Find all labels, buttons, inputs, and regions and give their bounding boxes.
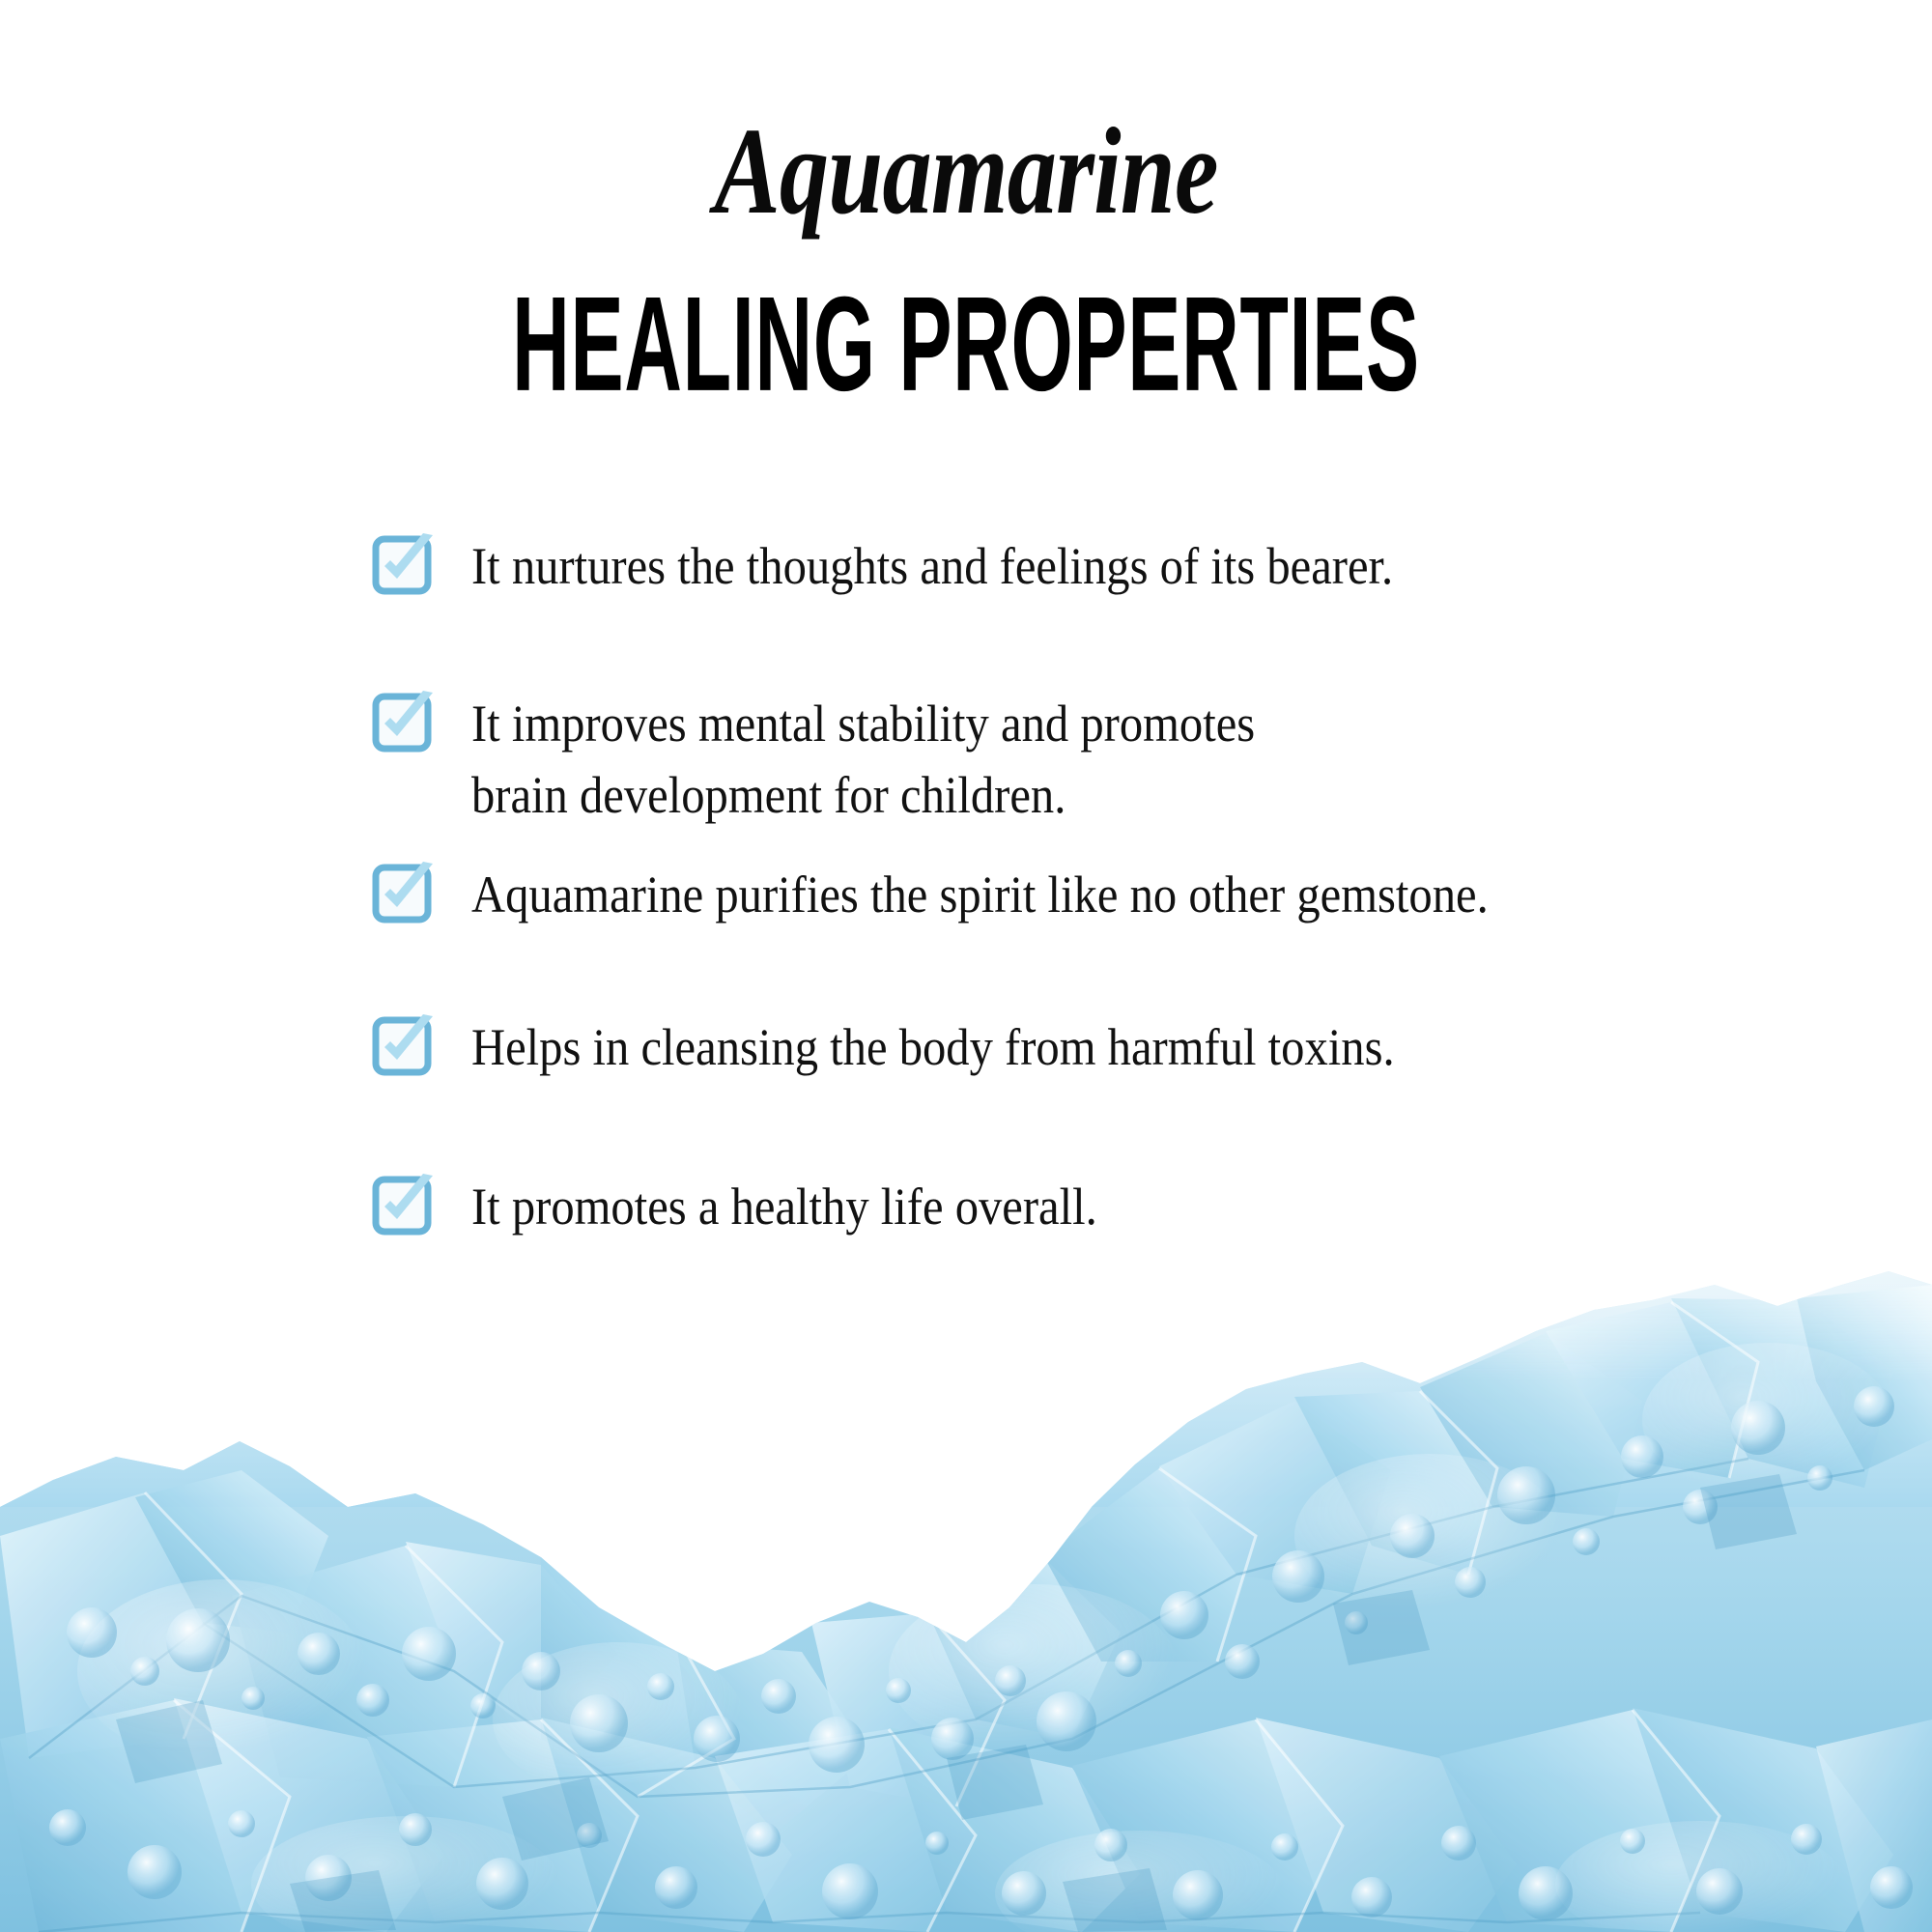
healing-properties-list: It nurtures the thoughts and feelings of…	[373, 529, 1841, 1243]
checked-checkbox-icon	[373, 533, 435, 595]
ice-cubes-photo	[0, 1217, 1932, 1932]
list-item-label: It nurtures the thoughts and feelings of…	[471, 529, 1393, 602]
list-item: Helps in cleansing the body from harmful…	[373, 1010, 1841, 1083]
poster-canvas: Aquamarine HEALING PROPERTIES It nurture…	[0, 0, 1932, 1932]
page-title-script: Aquamarine	[193, 108, 1739, 235]
list-item-label: Helps in cleansing the body from harmful…	[471, 1010, 1395, 1083]
ice-cubes-illustration	[0, 1217, 1932, 1932]
list-item: Aquamarine purifies the spirit like no o…	[373, 858, 1841, 930]
list-item-label: It improves mental stability and promote…	[471, 687, 1255, 831]
list-item-label: Aquamarine purifies the spirit like no o…	[471, 858, 1489, 930]
checked-checkbox-icon	[373, 691, 435, 753]
list-item: It nurtures the thoughts and feelings of…	[373, 529, 1841, 602]
checked-checkbox-icon	[373, 862, 435, 923]
list-item: It improves mental stability and promote…	[373, 687, 1841, 831]
poster-header: Aquamarine HEALING PROPERTIES	[0, 0, 1932, 391]
page-subtitle: HEALING PROPERTIES	[290, 277, 1642, 412]
checked-checkbox-icon	[373, 1014, 435, 1076]
